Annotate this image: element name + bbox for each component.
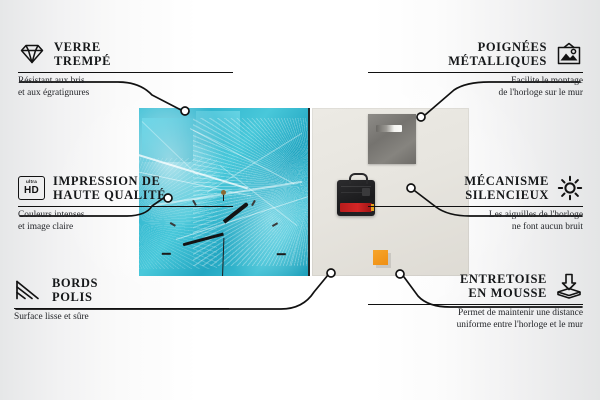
- feature-header: ENTRETOISE EN MOUSSE: [368, 272, 583, 300]
- feature-divider: [368, 72, 583, 73]
- feature-description: Couleurs intenses et image claire: [18, 210, 233, 233]
- feature-description: Résistant aux bris et aux égratignures: [18, 76, 233, 99]
- mechanism-detail: [341, 192, 363, 193]
- mechanism-detail: [341, 186, 371, 187]
- feature-mecanisme-silencieux: MÉCANISME SILENCIEUX Les aiguille: [368, 174, 583, 233]
- feature-header: VERRE TREMPÉ: [18, 40, 233, 68]
- feature-divider: [368, 304, 583, 305]
- diamond-icon: [18, 43, 46, 65]
- arrow-down-pad-icon: [555, 273, 583, 299]
- feature-header: POIGNÉES MÉTALLIQUES: [368, 40, 583, 68]
- feature-title: MÉCANISME SILENCIEUX: [464, 174, 549, 202]
- feature-divider: [14, 308, 229, 309]
- feature-description: Les aiguilles de l'horloge ne font aucun…: [368, 210, 583, 233]
- feature-title: BORDS POLIS: [52, 276, 98, 304]
- feature-header: MÉCANISME SILENCIEUX: [368, 174, 583, 202]
- feature-poignees-metalliques: POIGNÉES MÉTALLIQUES Facilite le montage…: [368, 40, 583, 99]
- feature-title: POIGNÉES MÉTALLIQUES: [448, 40, 547, 68]
- feature-verre-trempe: VERRE TREMPÉ Résistant aux bris et aux é…: [18, 40, 233, 99]
- diagonal-lines-icon: [14, 279, 44, 301]
- feature-description: Facilite le montage de l'horloge sur le …: [368, 76, 583, 99]
- feature-header: BORDS POLIS: [14, 276, 229, 304]
- feature-divider: [18, 206, 233, 207]
- ultra-hd-large-text: HD: [24, 186, 39, 196]
- feature-title: IMPRESSION DE HAUTE QUALITÉ: [53, 174, 166, 202]
- feature-description: Permet de maintenir une distance uniform…: [368, 308, 583, 331]
- metal-hanger-plate: [368, 114, 416, 164]
- feature-impression-haute-qualite: ultra HD IMPRESSION DE HAUTE QUALITÉ Cou…: [18, 174, 233, 233]
- feature-divider: [368, 206, 583, 207]
- feature-bords-polis: BORDS POLIS Surface lisse et sûre: [14, 276, 229, 324]
- infographic-canvas: VERRE TREMPÉ Résistant aux bris et aux é…: [0, 0, 600, 400]
- feature-divider: [18, 72, 233, 73]
- feature-entretoise-en-mousse: ENTRETOISE EN MOUSSE Permet de maintenir…: [368, 272, 583, 331]
- feature-title: VERRE TREMPÉ: [54, 40, 111, 68]
- foam-spacer: [373, 250, 388, 265]
- picture-frame-icon: [555, 42, 583, 66]
- feature-description: Surface lisse et sûre: [14, 312, 229, 323]
- glass-shard: [142, 118, 193, 162]
- clock-tick-major: [224, 253, 286, 255]
- ultra-hd-icon: ultra HD: [18, 176, 45, 200]
- gear-icon: [557, 175, 583, 201]
- hanger-loop-icon: [349, 173, 368, 184]
- clock-tick-major: [162, 253, 224, 255]
- feature-header: ultra HD IMPRESSION DE HAUTE QUALITÉ: [18, 174, 233, 202]
- feature-title: ENTRETOISE EN MOUSSE: [460, 272, 547, 300]
